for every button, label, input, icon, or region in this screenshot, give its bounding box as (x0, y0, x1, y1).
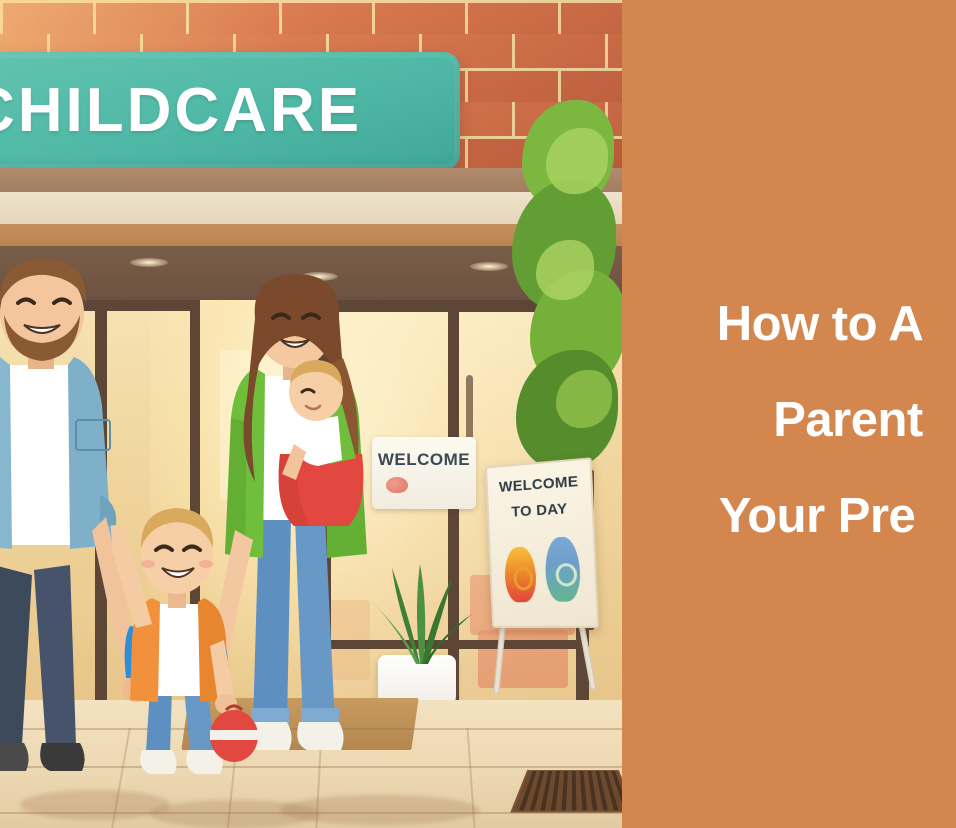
crayon-shape-blue (544, 536, 581, 602)
aframe-face: WELCOME TO DAY (485, 457, 599, 628)
title-panel: How to A Parent Your Pre (622, 0, 956, 828)
figure-baby (272, 358, 382, 548)
childcare-storefront-sign: CHILDCARE (0, 52, 460, 170)
floor-grate (510, 770, 622, 813)
aframe-line-2: TO DAY (489, 499, 592, 522)
poster-canvas: CHILDCARE (0, 0, 956, 828)
ceiling-downlight (470, 262, 508, 271)
sign-text: CHILDCARE (0, 72, 362, 150)
poster-headline: How to A Parent Your Pre (622, 276, 956, 564)
figure-toddler (112, 500, 272, 800)
hero-illustration: CHILDCARE (0, 0, 622, 828)
headline-line-3: Your Pre (622, 468, 956, 564)
crayon-shape-orange (504, 546, 537, 602)
aframe-line-1: WELCOME (488, 472, 591, 497)
headline-line-2: Parent (622, 372, 956, 468)
aframe-welcome-sign: WELCOME TO DAY (483, 460, 599, 655)
entry-shrub (512, 70, 622, 470)
headline-line-1: How to A (622, 276, 956, 372)
